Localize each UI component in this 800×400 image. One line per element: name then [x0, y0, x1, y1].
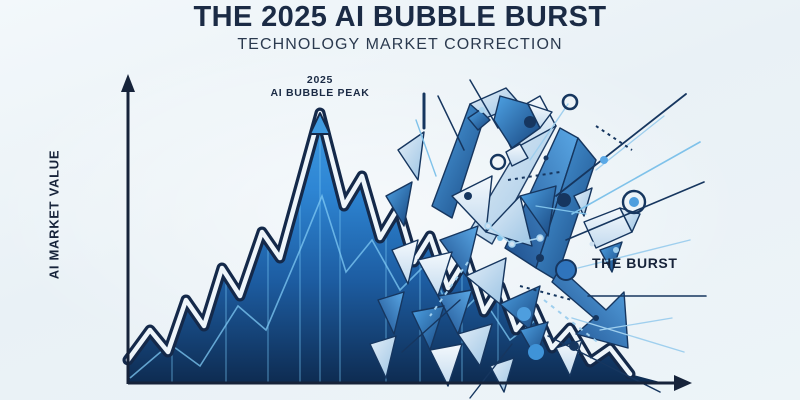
peak-caption: AI BUBBLE PEAK	[231, 87, 409, 100]
y-axis-label: AI MARKET VALUE	[47, 125, 62, 305]
burst-annotation: THE BURST	[592, 255, 678, 271]
page-subtitle: TECHNOLOGY MARKET CORRECTION	[0, 35, 800, 55]
x-axis-arrow	[674, 375, 692, 391]
infographic-canvas: THE 2025 AI BUBBLE BURST TECHNOLOGY MARK…	[0, 0, 800, 400]
y-axis-arrow	[121, 74, 135, 92]
page-title: THE 2025 AI BUBBLE BURST	[0, 1, 800, 33]
peak-annotation: 2025 AI BUBBLE PEAK	[231, 74, 409, 100]
chart-artwork	[0, 0, 800, 400]
peak-year: 2025	[231, 74, 409, 87]
